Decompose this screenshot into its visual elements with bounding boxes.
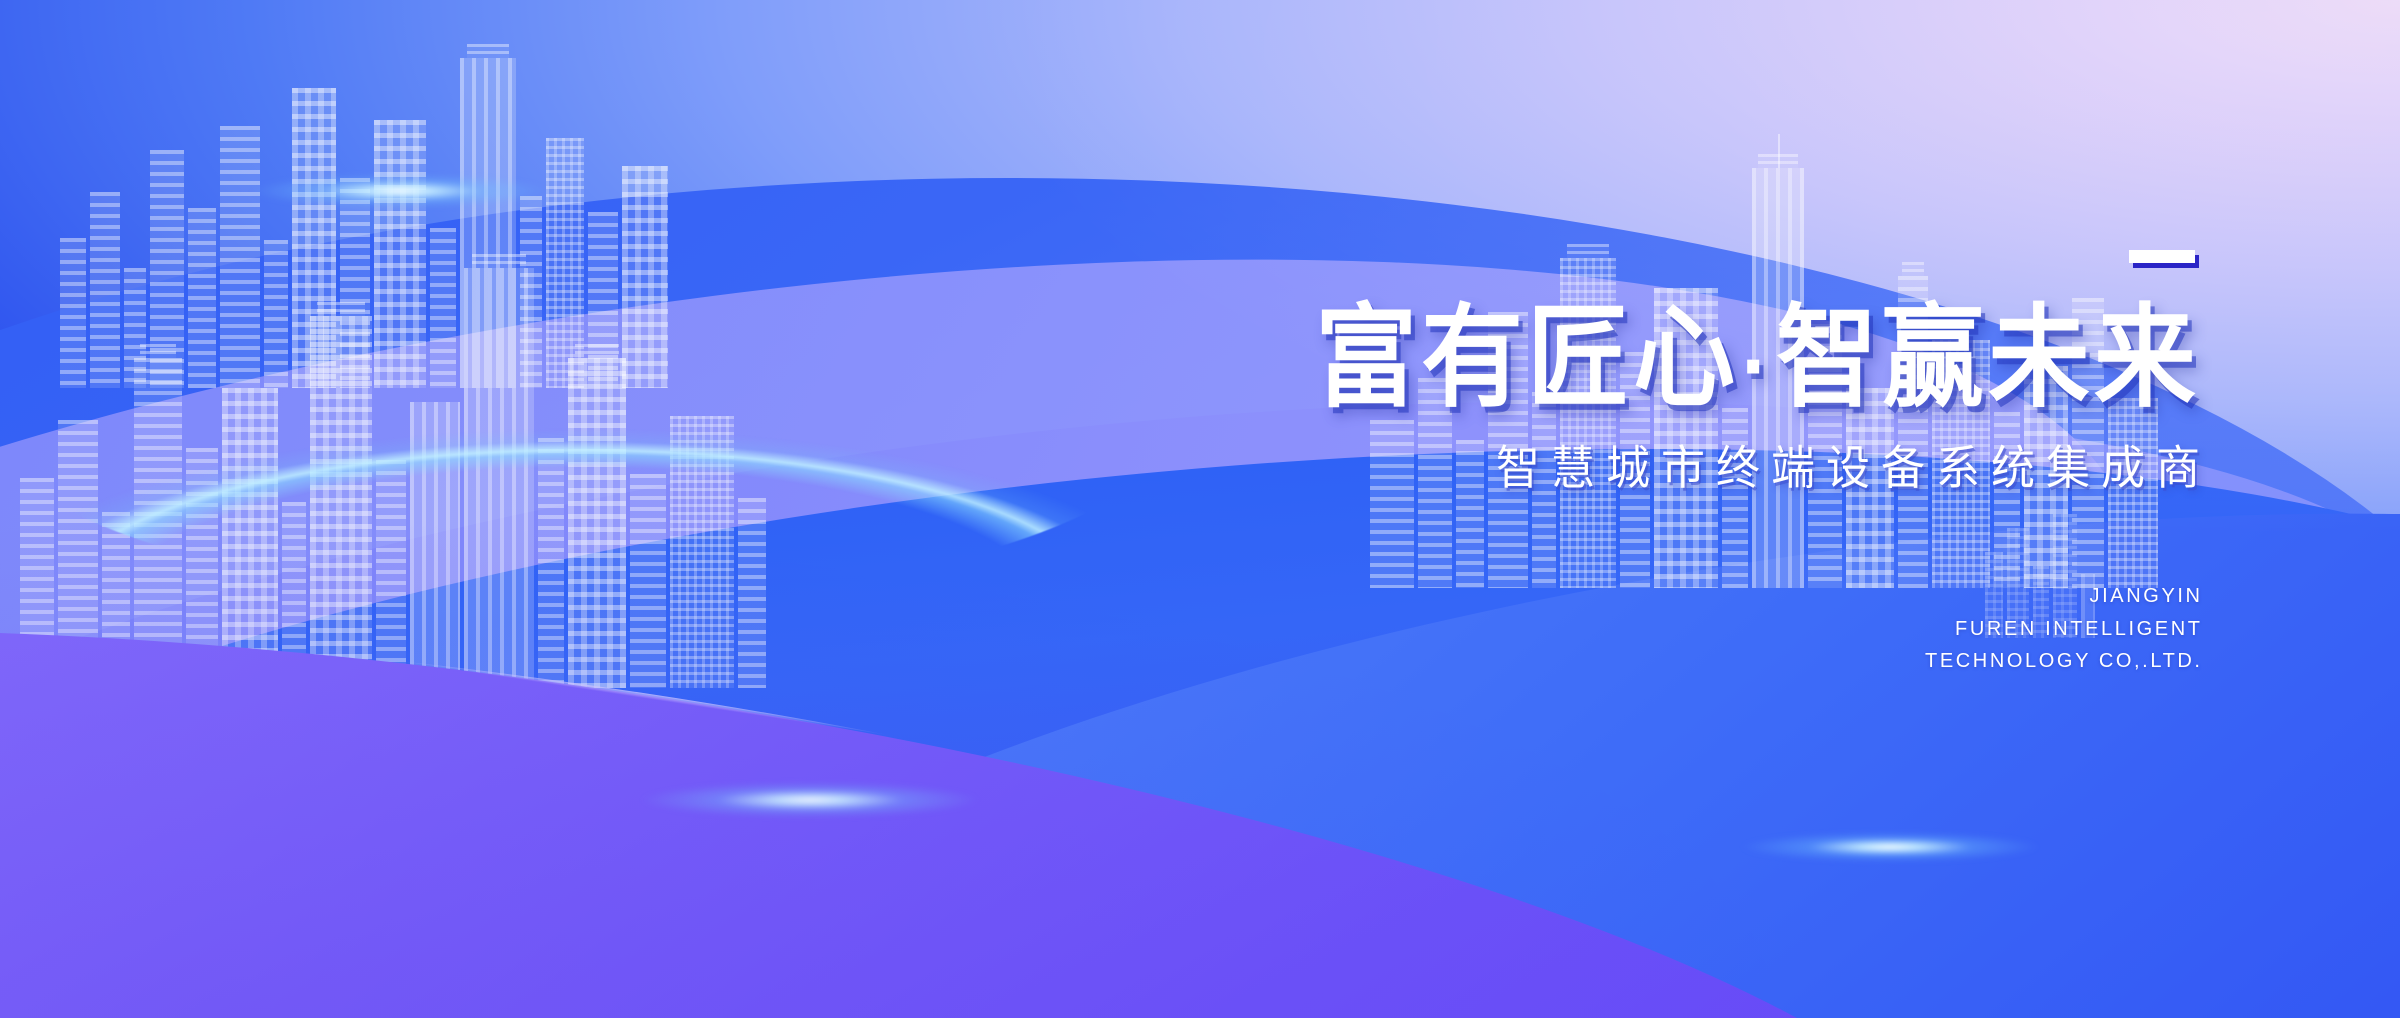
company-name-block: JIANGYIN FUREN INTELLIGENT TECHNOLOGY CO… bbox=[1000, 580, 2203, 677]
glow-core-upper-left bbox=[250, 174, 550, 208]
glow-core-right bbox=[1740, 832, 2040, 862]
company-line-3: TECHNOLOGY CO,.LTD. bbox=[1000, 645, 2203, 677]
glow-arc-right bbox=[1217, 666, 2400, 1018]
text-block: 富有匠心·智赢未来 智慧城市终端设备系统集成商 JIANGYIN FUREN I… bbox=[1000, 250, 2200, 678]
subtitle: 智慧城市终端设备系统集成商 bbox=[1000, 442, 2211, 496]
company-line-2: FUREN INTELLIGENT bbox=[1000, 613, 2203, 645]
company-line-1: JIANGYIN bbox=[1000, 580, 2203, 612]
headline: 富有匠心·智赢未来 bbox=[928, 300, 2200, 418]
glow-arc-lower-left bbox=[0, 788, 1640, 1018]
glow-core-lower-left bbox=[640, 782, 980, 818]
accent-dash-icon bbox=[2129, 250, 2195, 263]
headline-right: 智赢未来 bbox=[1776, 296, 2200, 420]
headline-left: 富有匠心 bbox=[1315, 296, 1739, 420]
headline-separator-dot: · bbox=[1739, 314, 1776, 417]
banner-root: 富有匠心·智赢未来 智慧城市终端设备系统集成商 JIANGYIN FUREN I… bbox=[0, 0, 2400, 1018]
